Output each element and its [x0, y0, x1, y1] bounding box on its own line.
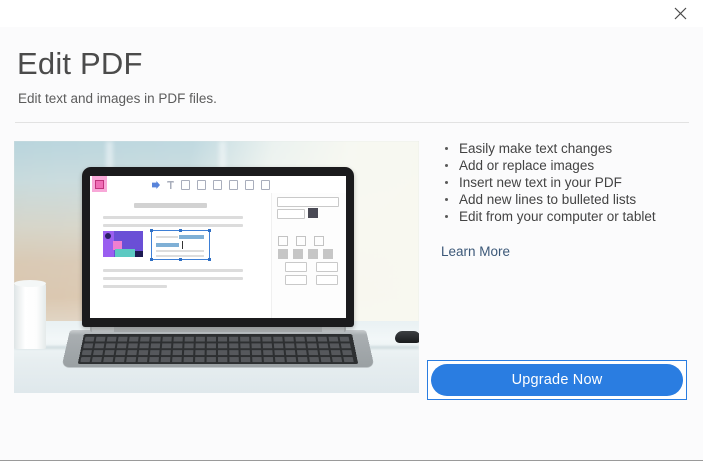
word-spacing-input[interactable]: [316, 262, 338, 272]
feature-label: Easily make text changes: [459, 141, 612, 156]
dialog-titlebar: [0, 0, 703, 27]
page-tool-icon: [213, 180, 222, 190]
mouse: [395, 331, 419, 343]
letter-spacing-input[interactable]: [285, 262, 307, 272]
extract-icon[interactable]: [308, 304, 316, 312]
list-item: Edit from your computer or tablet: [441, 208, 656, 225]
feature-label: Edit from your computer or tablet: [459, 209, 656, 224]
underline-icon[interactable]: [308, 223, 316, 231]
laptop-screen: [90, 176, 346, 318]
indent-icon[interactable]: [314, 236, 324, 246]
upgrade-button-focus-ring: Upgrade Now: [427, 360, 687, 400]
line-height-input[interactable]: [285, 275, 307, 285]
learn-more-link[interactable]: Learn More: [441, 244, 510, 259]
comment-tool-icon: [261, 180, 270, 190]
feature-label: Add new lines to bulleted lists: [459, 192, 636, 207]
list-item: Easily make text changes: [441, 140, 656, 157]
cup: [14, 283, 46, 349]
list-item: Insert new text in your PDF: [441, 174, 656, 191]
properties-panel: [271, 193, 346, 318]
dialog-header: Edit PDF Edit text and images in PDF fil…: [17, 45, 217, 107]
edit-pdf-promo-dialog: Edit PDF Edit text and images in PDF fil…: [0, 0, 703, 461]
list-item: Add or replace images: [441, 157, 656, 174]
bullet-list-icon[interactable]: [278, 236, 288, 246]
align-left-icon[interactable]: [278, 249, 288, 259]
feature-list: Easily make text changes Add or replace …: [441, 140, 656, 225]
page-subtitle: Edit text and images in PDF files.: [18, 91, 217, 107]
text-tool-icon: [167, 181, 174, 189]
group-icon[interactable]: [293, 304, 301, 312]
arrange-icon[interactable]: [278, 304, 286, 312]
font-size-select[interactable]: [277, 209, 305, 219]
italic-icon[interactable]: [293, 223, 301, 231]
rotate-icon[interactable]: [293, 293, 301, 301]
align-center-icon[interactable]: [293, 249, 303, 259]
link-tool-icon: [197, 180, 206, 190]
organize-tool-icon: [229, 180, 238, 190]
bold-icon[interactable]: [278, 223, 286, 231]
laptop: [70, 167, 366, 372]
form-tool-icon: [245, 180, 254, 190]
promo-image: [14, 141, 419, 393]
align-right-icon[interactable]: [308, 249, 318, 259]
selected-text-box: [151, 230, 210, 260]
font-family-select[interactable]: [277, 197, 339, 207]
strikethrough-icon[interactable]: [323, 223, 331, 231]
close-icon[interactable]: [658, 0, 703, 27]
flip-icon[interactable]: [308, 293, 316, 301]
close-glyph: [674, 7, 687, 20]
list-item: Add new lines to bulleted lists: [441, 191, 656, 208]
edit-pdf-tool-icon: [152, 181, 160, 189]
crop-icon[interactable]: [278, 293, 286, 301]
image-tool-icon: [181, 180, 190, 190]
toolbar-icon-group: [152, 180, 270, 190]
numbered-list-icon[interactable]: [296, 236, 306, 246]
feature-label: Add or replace images: [459, 158, 594, 173]
upgrade-now-button[interactable]: Upgrade Now: [431, 364, 683, 396]
delete-icon[interactable]: [323, 304, 331, 312]
replace-image-icon[interactable]: [323, 293, 331, 301]
document-image-block: [103, 231, 143, 257]
feature-label: Insert new text in your PDF: [459, 175, 622, 190]
laptop-keyboard: [78, 334, 359, 364]
editor-toolbar: [90, 176, 346, 194]
page-title: Edit PDF: [17, 45, 217, 83]
document-page: [90, 193, 272, 318]
text-color-swatch[interactable]: [308, 208, 318, 218]
cup-rim: [14, 280, 46, 287]
laptop-lid: [82, 167, 354, 327]
header-divider: [15, 122, 689, 123]
scale-input[interactable]: [316, 275, 338, 285]
pdf-app-logo-icon: [92, 176, 107, 192]
align-justify-icon[interactable]: [323, 249, 333, 259]
